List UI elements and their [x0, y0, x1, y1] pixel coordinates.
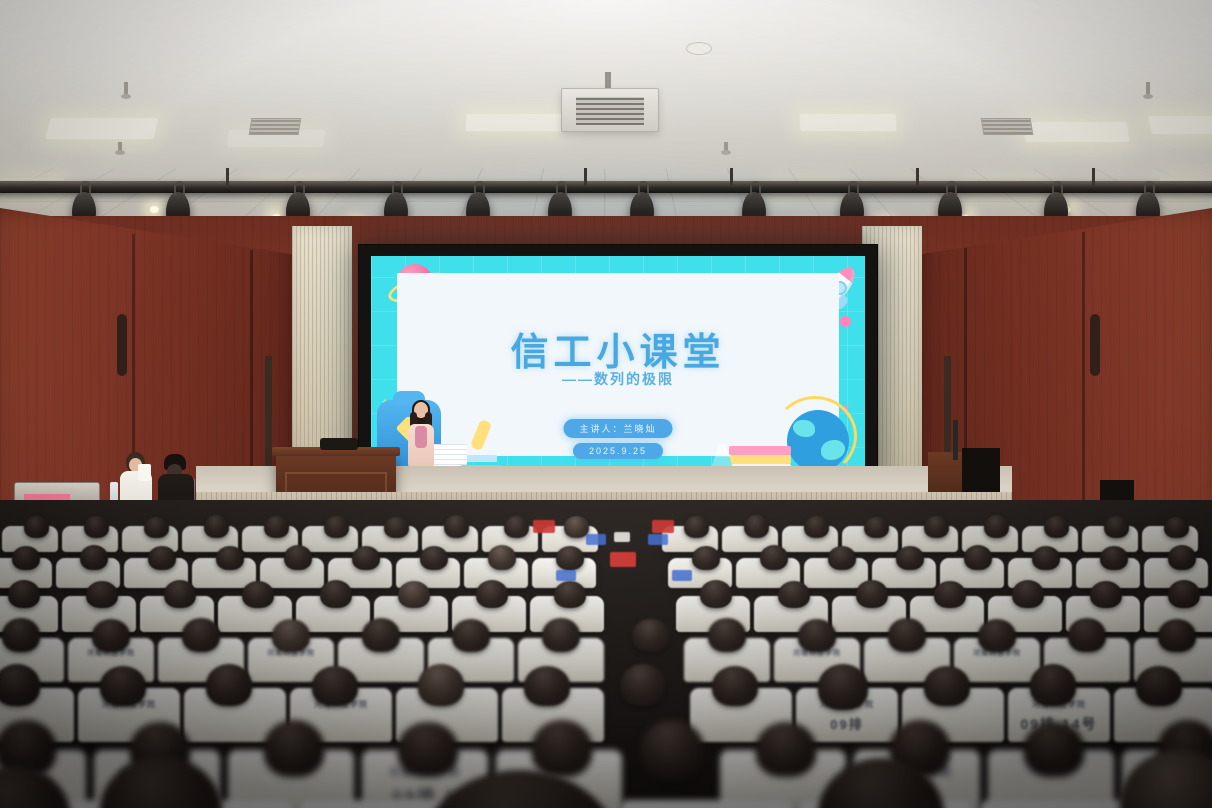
audience-head [1032, 546, 1060, 570]
seat-object-red [610, 552, 636, 567]
audience-head [362, 618, 400, 652]
audience-head [164, 580, 196, 608]
truss-cable [226, 168, 229, 186]
audience-head [398, 722, 458, 776]
audience-head [684, 516, 709, 538]
seat-object-blue [672, 570, 692, 581]
audience-head [1024, 722, 1084, 776]
audience-head [204, 515, 229, 538]
wall-seam [1082, 232, 1085, 534]
staff-paper [138, 464, 151, 481]
audience-head [556, 546, 584, 570]
slide-speaker-pill: 主讲人：兰晓灿 [563, 419, 672, 438]
seat [620, 800, 792, 808]
audience-head [1100, 546, 1128, 570]
audience-head [182, 618, 220, 652]
presenter-scarf [415, 426, 427, 448]
audience-head [80, 545, 108, 570]
audience-area: 河南科技学院 河南科技学院 河南科技学院 河南科技学院 [0, 500, 1212, 808]
audience-head [420, 546, 448, 570]
audience-head [760, 545, 788, 570]
audience-head [542, 618, 580, 652]
microscope-arm-icon [470, 419, 492, 451]
audience-head [24, 516, 49, 538]
seat-object-white [614, 532, 630, 542]
audience-head [1168, 545, 1196, 570]
audience-head [100, 666, 146, 706]
audience-head [2, 618, 40, 652]
seat-row-label: 09排 [796, 714, 898, 733]
microscope-stage-icon [467, 455, 497, 462]
audience-head [744, 515, 769, 538]
downlight [150, 206, 159, 213]
lecture-hall-photo: ★ ♪ ★ ★ 信工小课堂 ——数列的极限 主讲人：兰晓灿 2025.9.25 [0, 0, 1212, 808]
audience-head [264, 720, 324, 776]
audience-head [1168, 580, 1200, 608]
audience-head [444, 515, 469, 538]
audience-head [206, 664, 252, 706]
book-item [729, 446, 791, 455]
audience-head [1044, 516, 1069, 538]
audience-head [384, 517, 409, 538]
pink-dot-icon [840, 316, 851, 327]
audience-head [476, 580, 508, 608]
audience-head [620, 664, 666, 706]
audience-head [242, 581, 274, 608]
audience-head [148, 546, 176, 570]
audience-head [324, 516, 349, 538]
seat-object-blue [648, 534, 668, 545]
audience-head [272, 619, 310, 652]
audience-head [934, 581, 966, 608]
audience-head [0, 664, 40, 706]
audience-head [896, 546, 924, 570]
mic-stand [953, 420, 958, 460]
seat-object-blue [586, 534, 606, 545]
audience-head [284, 545, 312, 570]
audience-head [12, 546, 40, 570]
audience-head [216, 546, 244, 570]
audience-head [1012, 580, 1044, 608]
book-item [729, 455, 791, 464]
audience-head [418, 664, 464, 706]
audience-head [964, 545, 992, 570]
audience-head [1104, 516, 1129, 538]
audience-head [828, 546, 856, 570]
audience-head [84, 516, 109, 538]
audience-head [320, 580, 352, 608]
audience-head [984, 515, 1009, 538]
audience-head [924, 666, 970, 706]
audience-head [712, 666, 758, 706]
audience-head [352, 546, 380, 570]
audience-head [888, 618, 926, 652]
audience-head [452, 619, 490, 652]
slide-subtitle: ——数列的极限 [397, 369, 839, 389]
slide-title: 信工小课堂 [397, 321, 839, 376]
globe-icon [787, 410, 849, 472]
audience-head [144, 517, 169, 538]
audience-head [524, 666, 570, 706]
audience-head [978, 619, 1016, 652]
audience-head [312, 666, 358, 706]
audience-head [708, 618, 746, 652]
audience-head [804, 516, 829, 538]
truss-cable [584, 168, 587, 186]
audience-head [700, 580, 732, 608]
audience-head [488, 545, 516, 570]
audience-head [864, 517, 889, 538]
truss-cable [730, 168, 733, 186]
audience-head [856, 580, 888, 608]
audience-head [554, 581, 586, 608]
audience-head [778, 581, 810, 608]
audience-head [640, 720, 704, 780]
audience-head [1136, 666, 1182, 706]
truss-cable [916, 168, 919, 186]
audience-head [632, 619, 670, 652]
seat-object-red [652, 520, 674, 533]
podium-equipment [320, 438, 358, 450]
slide-date-pill: 2025.9.25 [573, 443, 663, 459]
audience-head [504, 516, 529, 538]
wall-speaker-slot [1090, 314, 1100, 376]
audience-head [756, 722, 816, 776]
audience-head [798, 619, 836, 652]
truss-cable [1092, 168, 1095, 186]
wall-speaker-slot [117, 314, 127, 376]
audience-head [818, 664, 868, 710]
seat-object-blue [556, 570, 576, 581]
audience-head [92, 619, 130, 652]
audience-head [1164, 517, 1189, 538]
audience-head [1030, 664, 1076, 706]
seat-object-red [533, 520, 555, 533]
audience-head [264, 516, 289, 538]
audience-head [1090, 581, 1122, 608]
audience-head [398, 581, 430, 608]
audience-head [8, 580, 40, 608]
audience-head [924, 516, 949, 538]
projection-screen: ★ ♪ ★ ★ 信工小课堂 ——数列的极限 主讲人：兰晓灿 2025.9.25 [371, 256, 865, 482]
audience-head [86, 581, 118, 608]
audience-head [532, 720, 592, 776]
audience-head [1068, 618, 1106, 652]
audience-head [692, 546, 720, 570]
audience-head [1158, 619, 1196, 652]
